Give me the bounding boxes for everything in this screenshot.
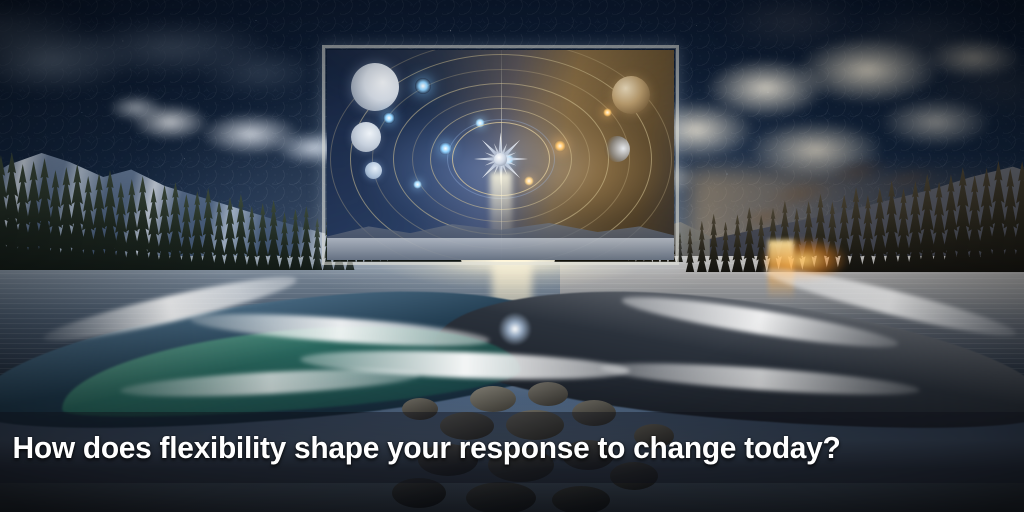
moon-icon-tiny bbox=[365, 162, 382, 179]
blue-orb-1 bbox=[415, 78, 431, 94]
portal-lake bbox=[327, 238, 674, 260]
forest-left bbox=[0, 150, 350, 270]
caption-band: How does flexibility shape your response… bbox=[0, 412, 1024, 483]
cosmic-portal-frame bbox=[322, 45, 679, 265]
conifer-tree-icon bbox=[1016, 154, 1024, 272]
moon-icon bbox=[351, 63, 399, 111]
caption-text: How does flexibility shape your response… bbox=[0, 430, 840, 466]
blue-orb-6 bbox=[413, 180, 422, 189]
blue-orb-3 bbox=[439, 142, 452, 155]
star-reflection bbox=[498, 312, 532, 346]
image-canvas: How does flexibility shape your response… bbox=[0, 0, 1024, 512]
gold-orb-1 bbox=[554, 140, 566, 152]
river-stone-icon bbox=[528, 382, 568, 406]
blue-orb-2 bbox=[383, 112, 395, 124]
river-stone-icon bbox=[552, 486, 610, 512]
portal-interior bbox=[327, 50, 674, 260]
gold-orb-2 bbox=[603, 108, 612, 117]
crescent-moon-icon bbox=[604, 136, 630, 162]
river-stone-icon bbox=[470, 386, 516, 412]
planet-icon bbox=[612, 76, 650, 114]
moon-icon-small bbox=[351, 122, 381, 152]
river-stone-icon bbox=[466, 482, 536, 512]
